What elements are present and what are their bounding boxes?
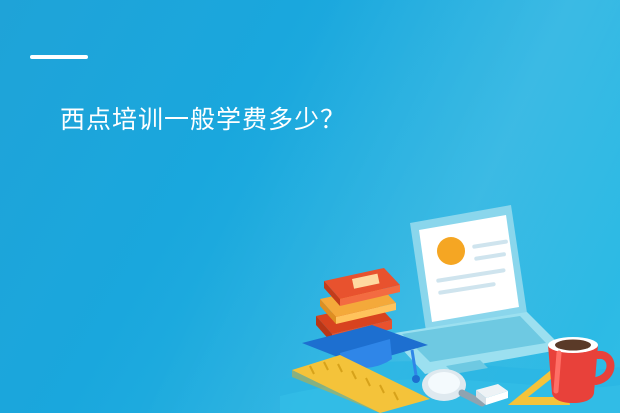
- accent-bar: [30, 55, 88, 59]
- magnifier-lens-inner: [428, 372, 460, 394]
- coffee-mug-handle: [596, 355, 611, 381]
- coffee-mug-shine: [556, 353, 559, 391]
- page-title: 西点培训一般学费多少？: [60, 104, 346, 137]
- banner-image: 西点培训一般学费多少？: [0, 0, 620, 413]
- graduation-cap-tassel-knob: [412, 375, 420, 383]
- education-desk-illustration: [280, 153, 620, 413]
- laptop-screen-avatar: [437, 237, 465, 265]
- coffee-mug-liquid: [555, 340, 591, 351]
